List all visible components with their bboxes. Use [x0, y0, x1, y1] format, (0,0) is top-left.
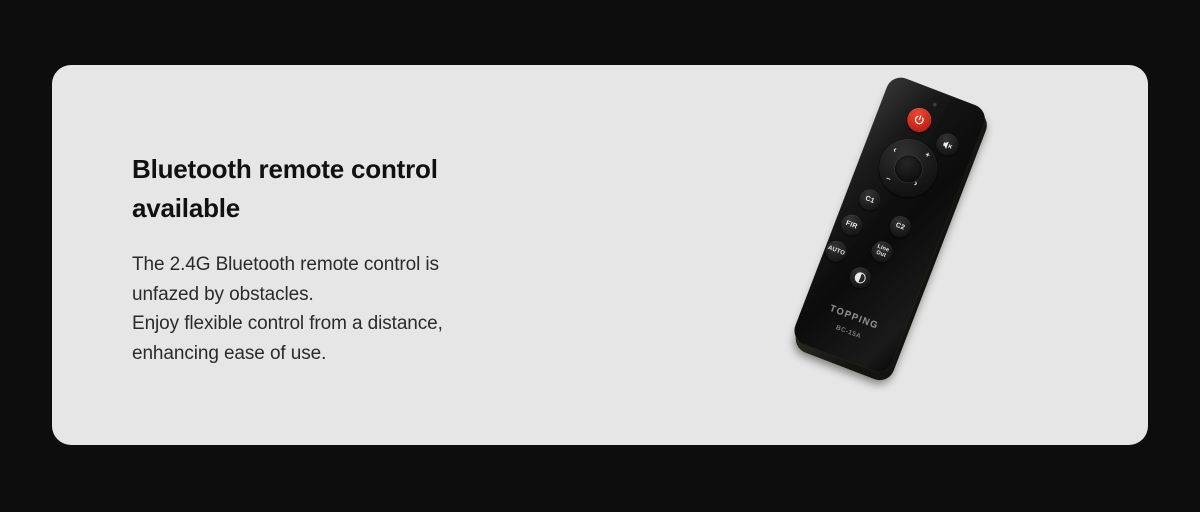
power-icon [911, 112, 927, 128]
feature-description: The 2.4G Bluetooth remote control is unf… [132, 228, 612, 368]
volume-up-label[interactable]: + [924, 150, 931, 159]
feature-text-block: Bluetooth remote control available The 2… [132, 150, 612, 368]
c2-button[interactable]: C2 [887, 213, 914, 240]
remote-front-face: + – ‹ › C1 C2 FIR Line Out AUTO TO [790, 73, 989, 376]
auto-button[interactable]: AUTO [823, 238, 850, 265]
mute-button[interactable] [933, 130, 961, 158]
navigation-ring[interactable]: + – ‹ › [871, 131, 946, 206]
nav-center-button[interactable] [891, 151, 926, 186]
ir-led-indicator [932, 102, 937, 107]
line-out-button[interactable]: Line Out [868, 238, 895, 265]
power-button[interactable] [904, 105, 935, 136]
previous-arrow-label[interactable]: ‹ [892, 145, 898, 154]
feature-card: Bluetooth remote control available The 2… [52, 65, 1148, 445]
mute-icon [940, 138, 954, 152]
brightness-icon [853, 271, 867, 285]
screenshot-stage: Bluetooth remote control available The 2… [0, 0, 1200, 512]
fir-button[interactable]: FIR [838, 212, 865, 239]
volume-down-label[interactable]: – [885, 174, 892, 183]
dimmer-button[interactable] [847, 264, 874, 291]
bluetooth-remote-control: + – ‹ › C1 C2 FIR Line Out AUTO TO [789, 73, 993, 381]
c1-button[interactable]: C1 [856, 187, 883, 214]
page-title: Bluetooth remote control available [132, 150, 612, 228]
